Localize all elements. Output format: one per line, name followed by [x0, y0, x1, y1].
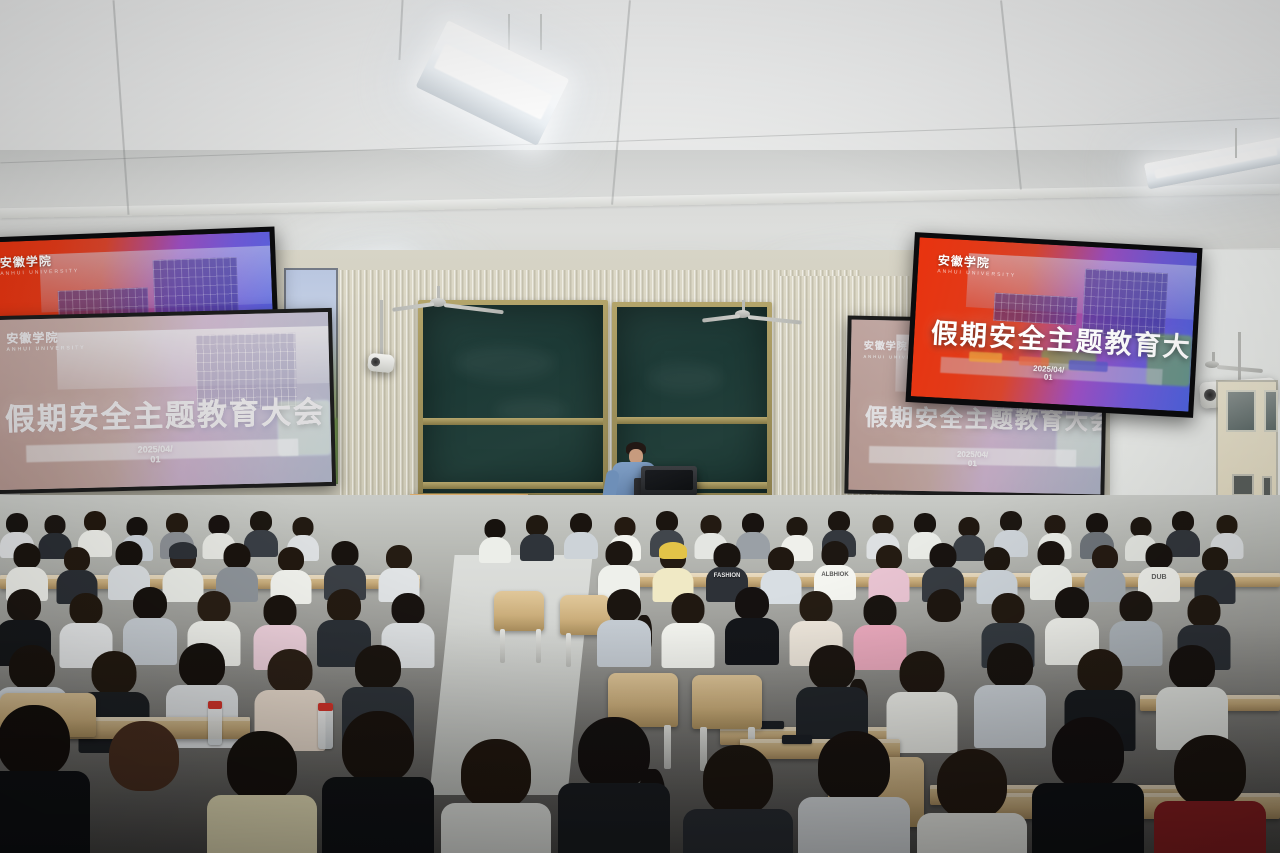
slide-date-line2: 01 — [1044, 373, 1053, 382]
chair-leg — [536, 629, 541, 663]
audience-member — [330, 711, 426, 853]
slide-content: 安徽学院 anhui university 假期安全主题教育大会 2025/04… — [0, 312, 332, 490]
audience-member — [870, 545, 908, 601]
ceiling-projector — [367, 353, 395, 374]
shirt-graphic-text: FASHION — [714, 573, 741, 579]
audience-member — [728, 587, 776, 663]
projector-mount — [1238, 332, 1241, 384]
audience-member — [1040, 717, 1136, 853]
slide-institution-name: 安徽学院 — [864, 337, 908, 353]
audience-member — [600, 589, 648, 665]
left-projection-screen: 安徽学院 anhui university 假期安全主题教育大会 2025/04… — [0, 308, 336, 494]
light-hanger — [540, 14, 542, 50]
slide-title: 假期安全主题教育大会 — [4, 387, 325, 439]
mobile-phone[interactable] — [760, 721, 784, 729]
projector-mount — [380, 300, 383, 356]
slide-date-line2: 01 — [150, 454, 160, 464]
projector-lens — [371, 357, 381, 367]
slide-institution-name: 安徽学院 — [0, 252, 52, 271]
slide-date: 2025/04/ 01 — [112, 444, 199, 465]
audience-seating: FASHION ALBHIOK — [0, 495, 1280, 853]
door-vent — [1232, 474, 1254, 496]
lecture-hall-photo: 安徽学院 anhui university 假期安全主题教育大会 2025/04… — [0, 0, 1280, 853]
audience-member — [522, 515, 552, 559]
auditorium-chair — [692, 675, 762, 729]
chalkboard-left — [418, 300, 608, 498]
door-window — [1226, 390, 1256, 432]
door-window — [1264, 390, 1278, 432]
slide-institution-name: 安徽学院 — [937, 251, 990, 271]
light-hanger — [1235, 128, 1237, 158]
audience-member — [690, 745, 786, 853]
right-tv-panel: 安徽学院 anhui university 假期安全主题教育大会 2025/04… — [905, 232, 1202, 418]
slide-content: 安徽学院 anhui university 假期安全主题教育大会 2025/04… — [911, 237, 1197, 411]
baseball-cap — [659, 542, 687, 559]
shirt-graphic-text: DUB — [1151, 574, 1166, 581]
auditorium-chair — [494, 591, 544, 631]
audience-member — [924, 749, 1020, 853]
chair-leg — [566, 633, 571, 667]
audience-member — [566, 513, 596, 557]
audience-member — [480, 519, 510, 561]
light-hanger — [508, 14, 510, 50]
audience-member — [664, 593, 712, 667]
chair-leg — [500, 629, 505, 663]
chair-leg — [664, 725, 671, 769]
shirt-graphic-text: ALBHIOK — [821, 572, 848, 578]
audience-member — [1162, 735, 1258, 853]
audience-member — [566, 717, 662, 853]
slide-date: 2025/04/ 01 — [940, 451, 1006, 469]
audience-member — [448, 739, 544, 853]
slide-institution-name: 安徽学院 — [6, 329, 58, 347]
audience-member — [1160, 645, 1224, 747]
slide-date: 2025/04/ 01 — [1012, 364, 1085, 385]
slide-date-line2: 01 — [968, 458, 977, 467]
audience-member — [806, 731, 902, 853]
audience-member — [96, 721, 192, 853]
audience-member — [214, 731, 310, 853]
baseball-cap — [169, 542, 197, 559]
audience-member — [978, 643, 1042, 745]
projector-lens — [1204, 389, 1217, 402]
audience-member — [0, 705, 82, 853]
podium-monitor — [641, 466, 697, 496]
